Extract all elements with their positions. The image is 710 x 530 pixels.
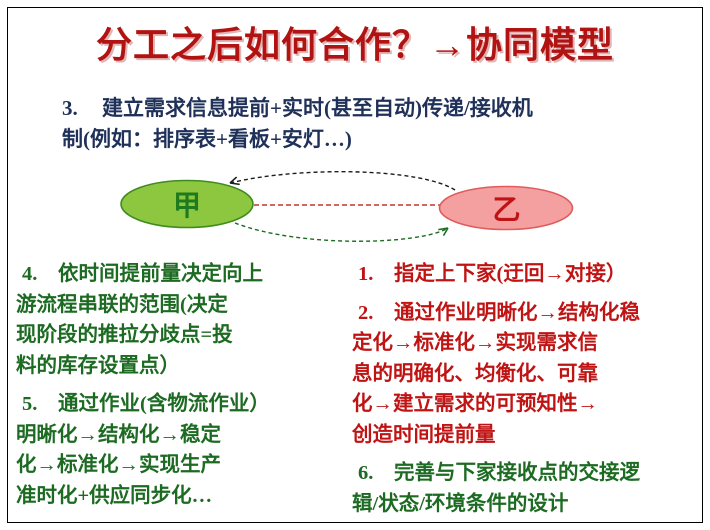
list-item-5-text: 通过作业(含物流作业） 明晰化→结构化→稳定 化→标准化→实现生产 准时化+供应…	[16, 393, 270, 507]
list-item-1: 1. 指定上下家(迂回→对接）	[352, 259, 702, 290]
list-item-4-number: 4.	[22, 259, 52, 290]
list-item-3-text: 建立需求信息提前+实时(甚至自动)传递/接收机 制(例如：排序表+看板+安灯…)	[62, 96, 533, 151]
slide-canvas: 分工之后如何合作？→协同模型 3. 建立需求信息提前+实时(甚至自动)传递/接收…	[0, 0, 710, 530]
list-item-4-text: 依时间提前量决定向上 游流程串联的范围(决定 现阶段的推拉分歧点=投 料的库存设…	[16, 263, 263, 377]
right-column: 1. 指定上下家(迂回→对接） 2. 通过作业明晰化→结构化稳 定化→标准化→实…	[352, 259, 702, 527]
collaboration-diagram: 甲 乙	[100, 160, 600, 255]
list-item-1-text: 指定上下家(迂回→对接）	[394, 263, 626, 285]
node-jia-ellipse[interactable]	[121, 181, 253, 228]
list-item-1-number: 1.	[358, 259, 388, 290]
list-item-3: 3. 建立需求信息提前+实时(甚至自动)传递/接收机 制(例如：排序表+看板+安…	[62, 93, 662, 155]
node-yi-ellipse[interactable]	[440, 187, 573, 230]
list-item-4: 4. 依时间提前量决定向上 游流程串联的范围(决定 现阶段的推拉分歧点=投 料的…	[16, 259, 346, 381]
list-item-2-text: 通过作业明晰化→结构化稳 定化→标准化→实现需求信 息的明确化、均衡化、可靠 化…	[352, 302, 640, 446]
list-item-6-text: 完善与下家接收点的交接逻 辑/状态/环境条件的设计	[352, 462, 640, 515]
left-column: 4. 依时间提前量决定向上 游流程串联的范围(决定 现阶段的推拉分歧点=投 料的…	[16, 259, 346, 519]
list-item-6: 6. 完善与下家接收点的交接逻 辑/状态/环境条件的设计	[352, 458, 702, 519]
page-title: 分工之后如何合作？→协同模型	[0, 16, 710, 68]
list-item-3-number: 3.	[62, 93, 96, 124]
diagram-svg	[100, 160, 600, 255]
bottom-curve-connector	[235, 223, 448, 241]
list-item-5: 5. 通过作业(含物流作业） 明晰化→结构化→稳定 化→标准化→实现生产 准时化…	[16, 389, 346, 511]
list-item-2: 2. 通过作业明晰化→结构化稳 定化→标准化→实现需求信 息的明确化、均衡化、可…	[352, 298, 702, 451]
list-item-6-number: 6.	[358, 458, 388, 489]
list-item-5-number: 5.	[22, 389, 52, 420]
list-item-2-number: 2.	[358, 298, 388, 329]
top-curve-connector	[230, 172, 455, 190]
